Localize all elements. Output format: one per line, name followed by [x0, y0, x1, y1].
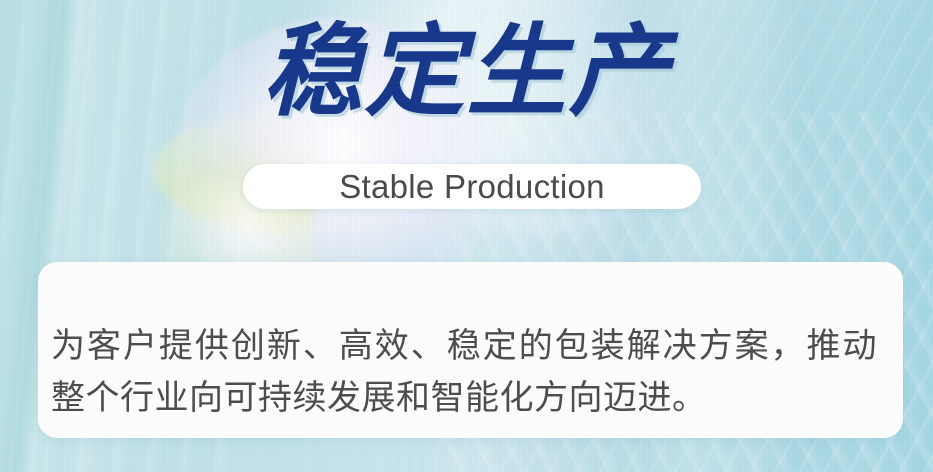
subtitle-pill: Stable Production: [243, 164, 701, 209]
stable-production-banner: 稳定生产 Stable Production 为客户提供创新、高效、稳定的包装解…: [0, 0, 933, 472]
banner-content: 稳定生产 Stable Production 为客户提供创新、高效、稳定的包装解…: [0, 0, 933, 472]
page-title: 稳定生产: [0, 14, 933, 130]
subtitle-label: Stable Production: [339, 170, 605, 204]
description-card: 为客户提供创新、高效、稳定的包装解决方案，推动整个行业向可持续发展和智能化方向迈…: [38, 262, 903, 438]
description-text: 为客户提供创新、高效、稳定的包装解决方案，推动整个行业向可持续发展和智能化方向迈…: [51, 320, 877, 424]
